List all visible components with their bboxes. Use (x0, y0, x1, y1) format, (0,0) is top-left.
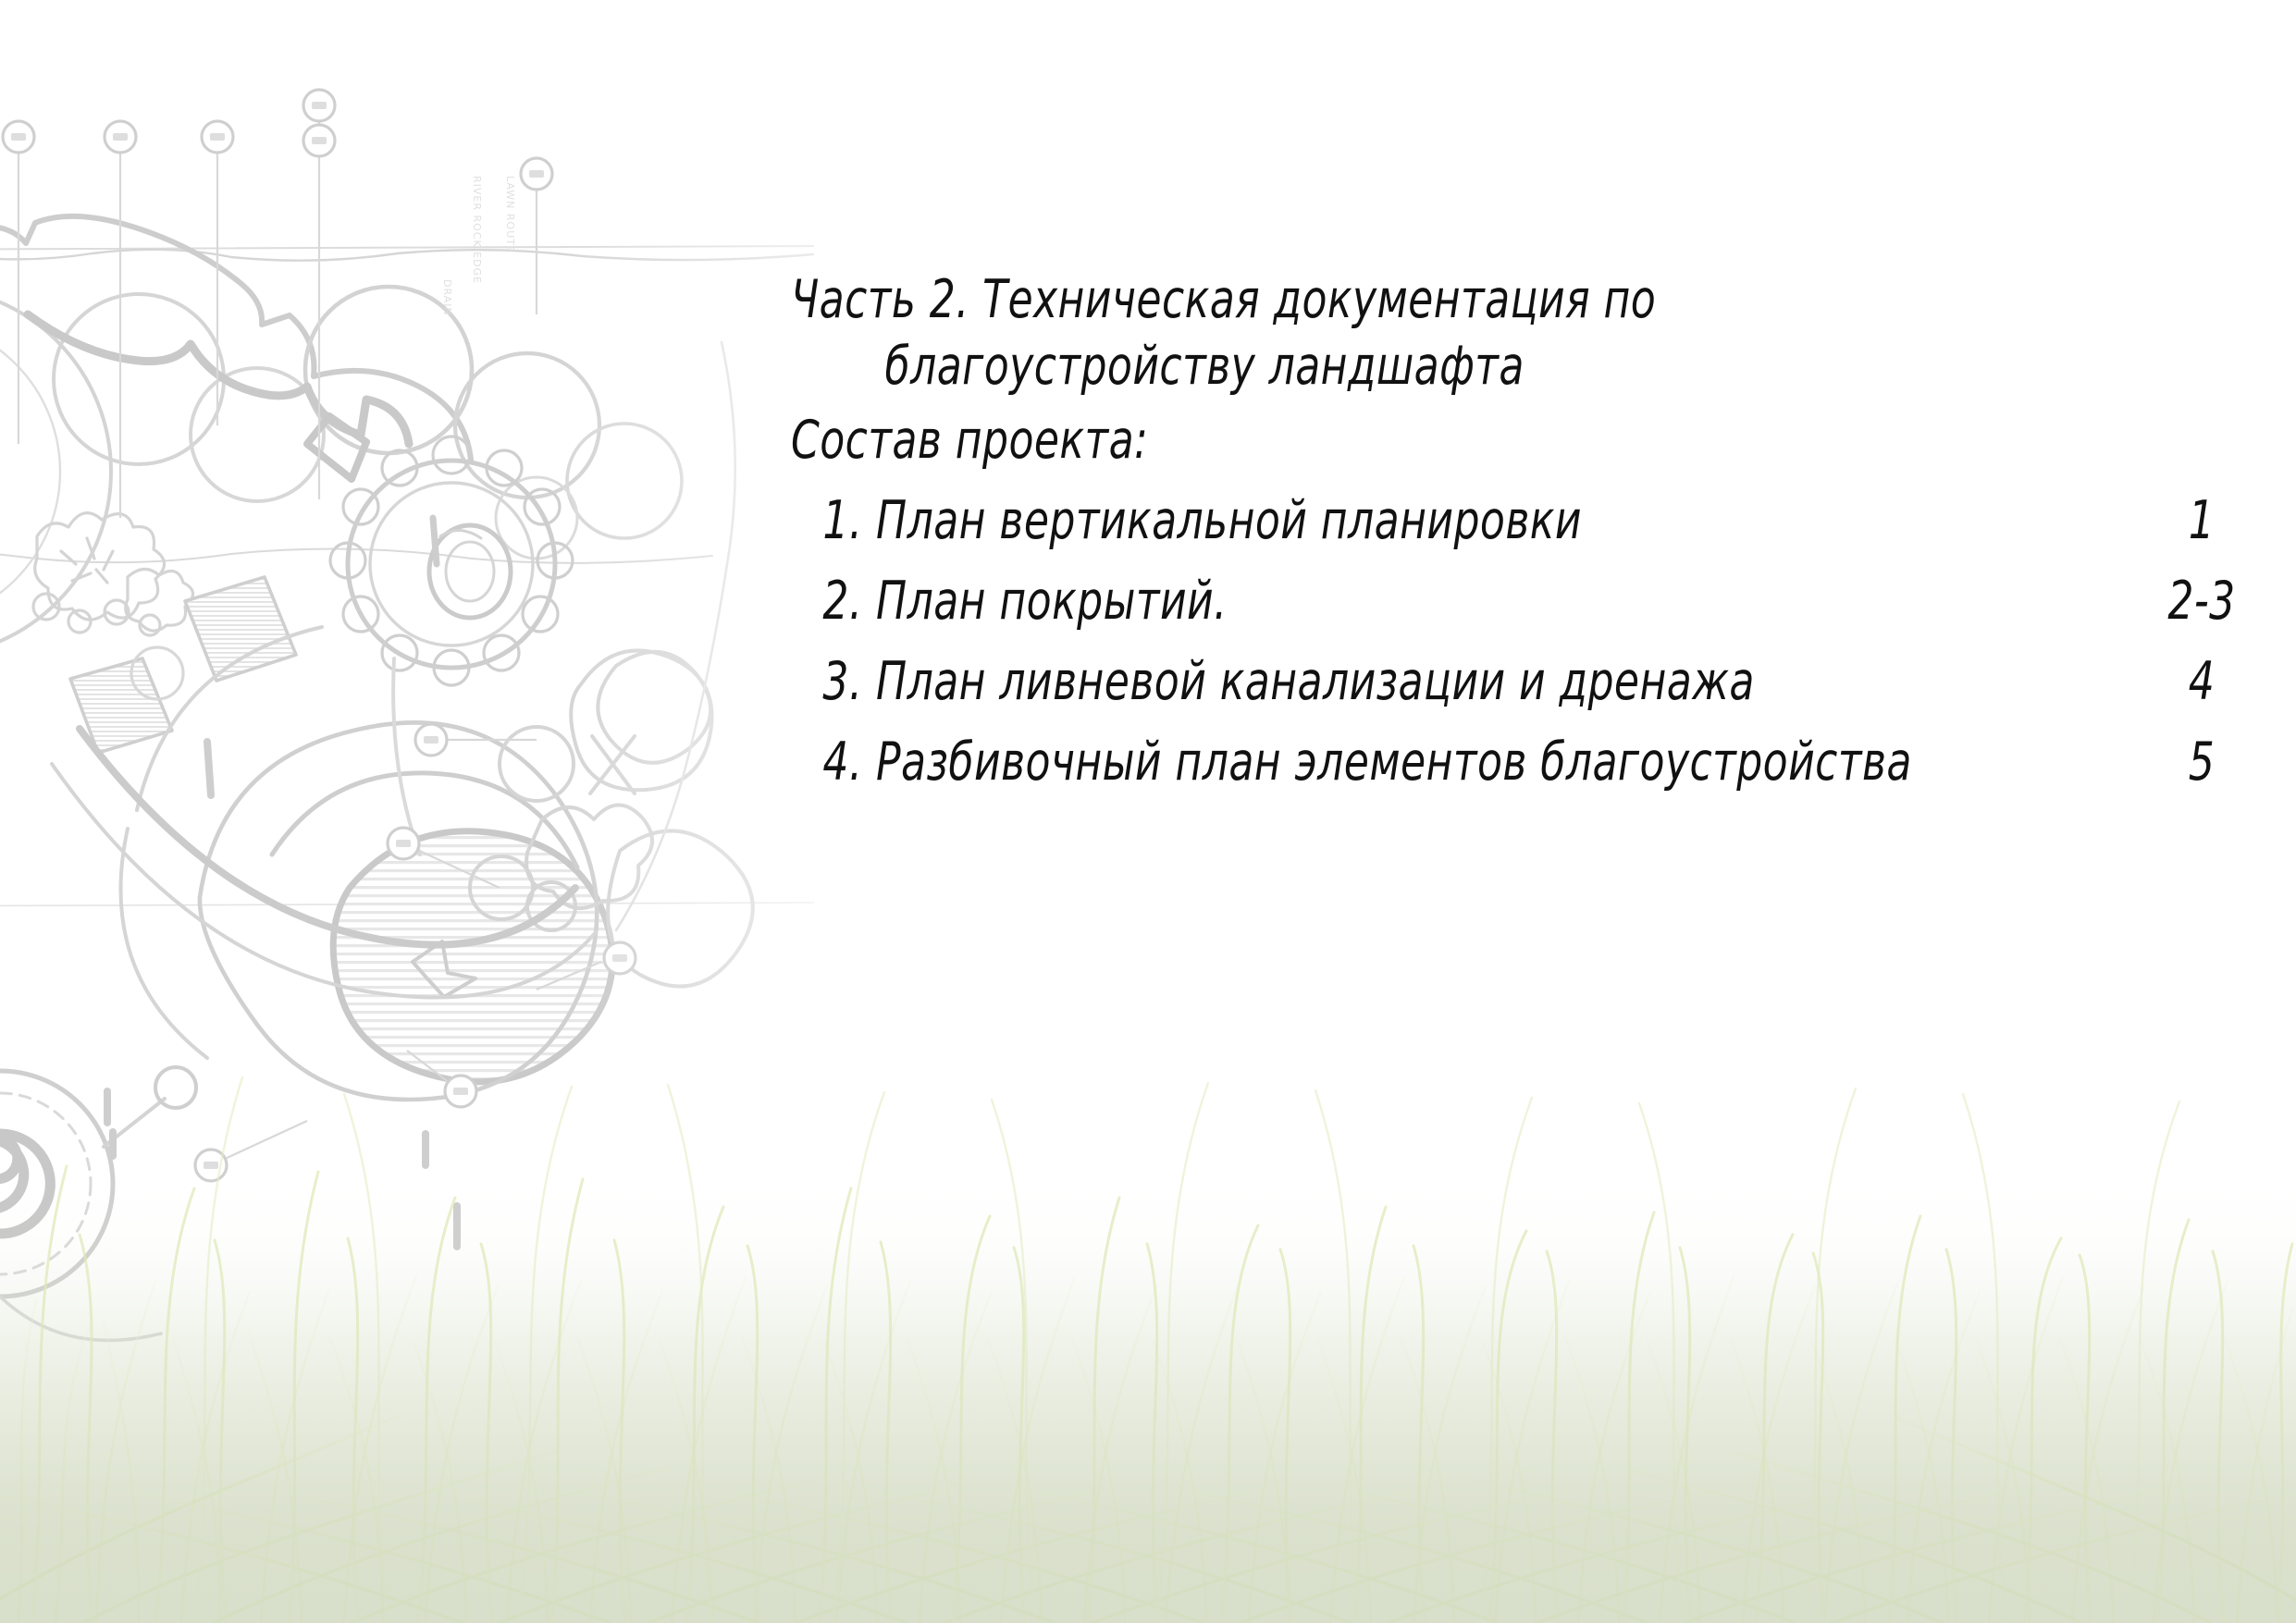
svg-text:RIVER ROCK EDGE: RIVER ROCK EDGE (471, 176, 483, 284)
toc-item-page-number: 5 (2142, 722, 2262, 803)
toc-item-page-number: 2-3 (2142, 561, 2262, 642)
page-title-line-1: Часть 2. Техническая документация по (791, 266, 2064, 333)
toc-item-label: План покрытий. (876, 561, 1957, 642)
slide-page: RIVER ROCK EDGE LAWN ROUTE DRAIN (0, 0, 2296, 1623)
toc-item-number: 1. (791, 481, 864, 561)
toc-item-page-number: 1 (2142, 481, 2262, 561)
toc-item-2[interactable]: 2. План покрытий. 2-3 (791, 561, 2271, 642)
toc-item-3[interactable]: 3. План ливневой канализации и дренажа 4 (791, 642, 2271, 722)
grass-border (0, 1050, 2296, 1623)
svg-text:LAWN ROUTE: LAWN ROUTE (504, 176, 516, 253)
svg-text:DRAIN: DRAIN (441, 279, 453, 316)
toc-item-label: Разбивочный план элементов благоустройст… (876, 722, 1957, 803)
toc-item-number: 2. (791, 561, 864, 642)
toc-item-number: 4. (791, 722, 864, 803)
toc-item-label: План вертикальной планировки (876, 481, 1957, 561)
toc-item-1[interactable]: 1. План вертикальной планировки 1 (791, 481, 2271, 561)
grass-haze-overlay (0, 1188, 2296, 1623)
landscape-site-plan: RIVER ROCK EDGE LAWN ROUTE DRAIN (0, 37, 814, 1378)
toc-item-number: 3. (791, 642, 864, 722)
toc-item-4[interactable]: 4. Разбивочный план элементов благоустро… (791, 722, 2271, 803)
plan-callout-markers (3, 90, 636, 1181)
section-label-contents: Состав проекта: (791, 407, 2064, 473)
toc-item-page-number: 4 (2142, 642, 2262, 722)
page-title-line-2: благоустройству ландшафта (791, 333, 2064, 400)
table-of-contents: 1. План вертикальной планировки 1 2. Пла… (791, 481, 2271, 803)
toc-item-label: План ливневой канализации и дренажа (876, 642, 1957, 722)
document-text-block: Часть 2. Техническая документация по бла… (791, 266, 2271, 803)
